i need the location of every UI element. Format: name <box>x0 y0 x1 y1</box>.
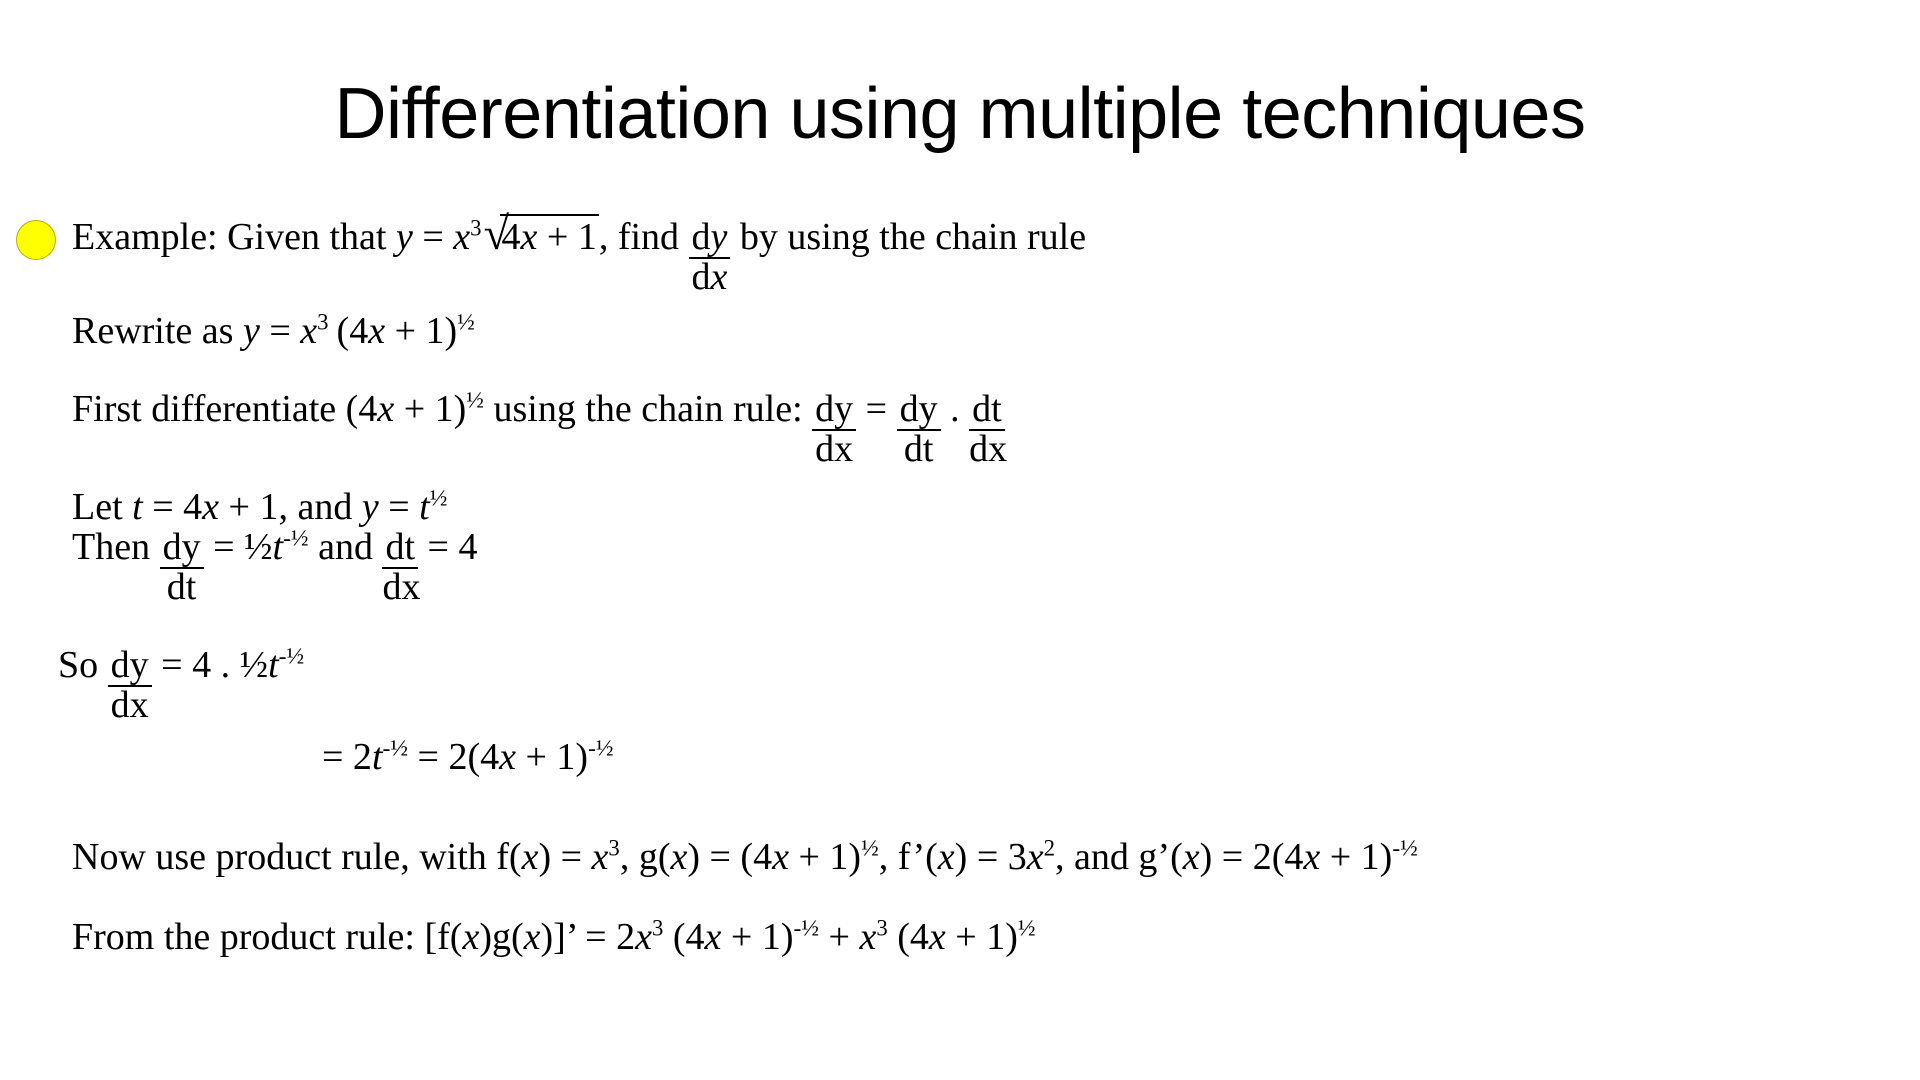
line-let-substitution: Let t = 4x + 1, and y = t½ <box>72 488 447 526</box>
then-lead: Then <box>72 526 160 568</box>
equals-expression: = 4 . ½ <box>152 644 268 686</box>
fraction-dy-dx: dydx <box>108 646 152 687</box>
var-x: x <box>938 836 955 878</box>
var-x: x <box>1303 836 1320 878</box>
var-x: x <box>1027 836 1044 878</box>
fraction-dy-dt: dydt <box>897 390 941 431</box>
fraction-dt-dx: dtdx <box>969 390 1005 431</box>
radicand: 4x + 1 <box>500 214 599 256</box>
group-open: (4 <box>663 916 704 958</box>
fraction-numerator: dt <box>382 528 418 569</box>
exponent-3: 3 <box>608 835 619 860</box>
var-t: t <box>268 644 279 686</box>
d-letter: d <box>692 216 711 258</box>
fraction-denominator: dx <box>812 430 856 468</box>
fraction-denominator: dx <box>969 430 1005 468</box>
var-y: y <box>396 216 413 258</box>
numerator-var-y: y <box>711 216 728 258</box>
group-open: (4 <box>337 310 369 352</box>
var-x: x <box>462 916 479 958</box>
var-x: x <box>202 486 219 528</box>
exponent-negative-half: -½ <box>794 915 820 941</box>
product-rule-lead: Now use product rule, with f( <box>72 836 522 878</box>
exponent-3: 3 <box>876 915 887 940</box>
exponent-negative-half: -½ <box>1392 835 1418 861</box>
title-block: Differentiation using multiple technique… <box>0 78 1920 150</box>
var-x: x <box>453 216 470 258</box>
var-x: x <box>377 388 394 430</box>
var-y: y <box>243 310 260 352</box>
radical-icon: √ <box>484 212 509 258</box>
var-y: y <box>362 486 379 528</box>
fraction-denominator: dx <box>382 568 418 606</box>
paren-eq: ) = 3 <box>955 836 1027 878</box>
exponent-half: ½ <box>466 387 484 413</box>
slide-canvas: Differentiation using multiple technique… <box>0 0 1920 1080</box>
equals-expression: = 4 <box>143 486 202 528</box>
equals-sign: = <box>413 216 453 258</box>
equals-four: = 4 <box>418 526 477 568</box>
line-simplified-result: = 2t-½ = 2(4x + 1)-½ <box>322 738 614 776</box>
exponent-3: 3 <box>317 309 328 334</box>
bullet-circle-icon <box>16 220 56 260</box>
line-rewrite-as: Rewrite as y = x3(4x + 1)½ <box>72 312 475 350</box>
equals-sign: = <box>379 486 419 528</box>
let-mid: + 1, and <box>219 486 362 528</box>
fraction-dy-dt: dydt <box>160 528 204 569</box>
var-x: x <box>300 310 317 352</box>
line-first-differentiate: First differentiate (4x + 1)½ using the … <box>72 390 1005 431</box>
exponent-half: ½ <box>430 485 448 511</box>
fraction-numerator: dy <box>897 390 941 431</box>
var-t: t <box>372 736 383 778</box>
g-open: )g( <box>479 916 523 958</box>
exponent-3: 3 <box>652 915 663 940</box>
line-product-rule-setup: Now use product rule, with f(x) = x3, g(… <box>72 838 1418 876</box>
then-mid: and <box>309 526 383 568</box>
from-product-lead: From the product rule: [f( <box>72 916 462 958</box>
var-x: x <box>499 736 516 778</box>
fraction-numerator: dy <box>160 528 204 569</box>
var-t: t <box>419 486 430 528</box>
var-x: x <box>705 916 722 958</box>
example-prefix: Example: Given that <box>72 216 396 258</box>
g-function-lead: , g( <box>620 836 671 878</box>
group-open: (4 <box>888 916 929 958</box>
d-letter: d <box>692 256 711 298</box>
exponent-half: ½ <box>861 835 879 861</box>
group-close: + 1) <box>789 836 861 878</box>
fraction-denominator: dx <box>689 258 731 296</box>
radicand-var-x: x <box>521 216 538 258</box>
result-eq2: = 2(4 <box>408 736 499 778</box>
var-x: x <box>929 916 946 958</box>
fraction-numerator: dy <box>108 646 152 687</box>
exponent-3: 3 <box>470 215 481 240</box>
fraction-denominator: dt <box>160 568 204 606</box>
var-x: x <box>1183 836 1200 878</box>
f-prime-lead: , f’( <box>879 836 938 878</box>
group-close: + 1) <box>385 310 457 352</box>
denominator-var-x: x <box>711 256 728 298</box>
var-x: x <box>772 836 789 878</box>
var-x: x <box>524 916 541 958</box>
exponent-negative-half: -½ <box>279 643 305 669</box>
fraction-denominator: dt <box>897 430 941 468</box>
paren-eq: ) = 2(4 <box>1200 836 1304 878</box>
exponent-negative-half: -½ <box>588 735 614 761</box>
line-then-derivatives: Then dydt = ½t-½ and dtdx = 4 <box>72 528 477 569</box>
equals-half: = ½ <box>204 526 273 568</box>
chain-rule-text: using the chain rule: <box>484 388 812 430</box>
so-lead: So <box>58 644 108 686</box>
after-radical-text: , find <box>599 216 689 258</box>
plus-sign: + <box>819 916 859 958</box>
exponent-negative-half: -½ <box>383 735 409 761</box>
fraction-dt-dx: dtdx <box>382 528 418 569</box>
result-eq1: = 2 <box>322 736 372 778</box>
multiplication-dot: . <box>941 388 970 430</box>
g-prime-lead: , and g’( <box>1055 836 1183 878</box>
bullet-line-example: Example: Given that y = x3√4x + 1, find … <box>72 214 1086 259</box>
line-product-rule-result: From the product rule: [f(x)g(x)]’ = 2x3… <box>72 918 1036 956</box>
var-t: t <box>273 526 284 568</box>
equals-sign: = <box>856 388 896 430</box>
paren-eq: ) = (4 <box>687 836 772 878</box>
equals-sign: = <box>260 310 300 352</box>
group-close: + 1) <box>516 736 588 778</box>
var-x: x <box>670 836 687 878</box>
bracket-prime-eq: )]’ = 2 <box>541 916 636 958</box>
first-diff-lead: First differentiate (4 <box>72 388 377 430</box>
square-root-expression: √4x + 1 <box>484 214 599 256</box>
fraction-dy-dx: dydx <box>689 218 731 259</box>
var-t: t <box>132 486 143 528</box>
fraction-numerator: dy <box>812 390 856 431</box>
var-x: x <box>859 916 876 958</box>
exponent-2: 2 <box>1044 835 1055 860</box>
group-var-x: x <box>368 310 385 352</box>
chain-rule-tail: by using the chain rule <box>730 216 1086 258</box>
line-so-derivative: So dydx = 4 . ½t-½ <box>58 646 304 687</box>
var-x: x <box>592 836 609 878</box>
exponent-half: ½ <box>457 309 475 335</box>
radicand-suffix: + 1 <box>537 216 596 258</box>
exponent-negative-half: -½ <box>283 525 309 551</box>
paren-eq: ) = <box>538 836 591 878</box>
exponent-half: ½ <box>1018 915 1036 941</box>
page-title: Differentiation using multiple technique… <box>0 78 1920 150</box>
var-x: x <box>635 916 652 958</box>
fraction-numerator: dy <box>689 218 731 259</box>
fraction-dy-dx: dydx <box>812 390 856 431</box>
fraction-denominator: dx <box>108 686 152 724</box>
group-close: + 1) <box>946 916 1018 958</box>
rewrite-lead: Rewrite as <box>72 310 243 352</box>
var-x: x <box>522 836 539 878</box>
fraction-numerator: dt <box>969 390 1005 431</box>
group-close: + 1) <box>721 916 793 958</box>
group-close: + 1) <box>1320 836 1392 878</box>
let-lead: Let <box>72 486 132 528</box>
group-close: + 1) <box>394 388 466 430</box>
